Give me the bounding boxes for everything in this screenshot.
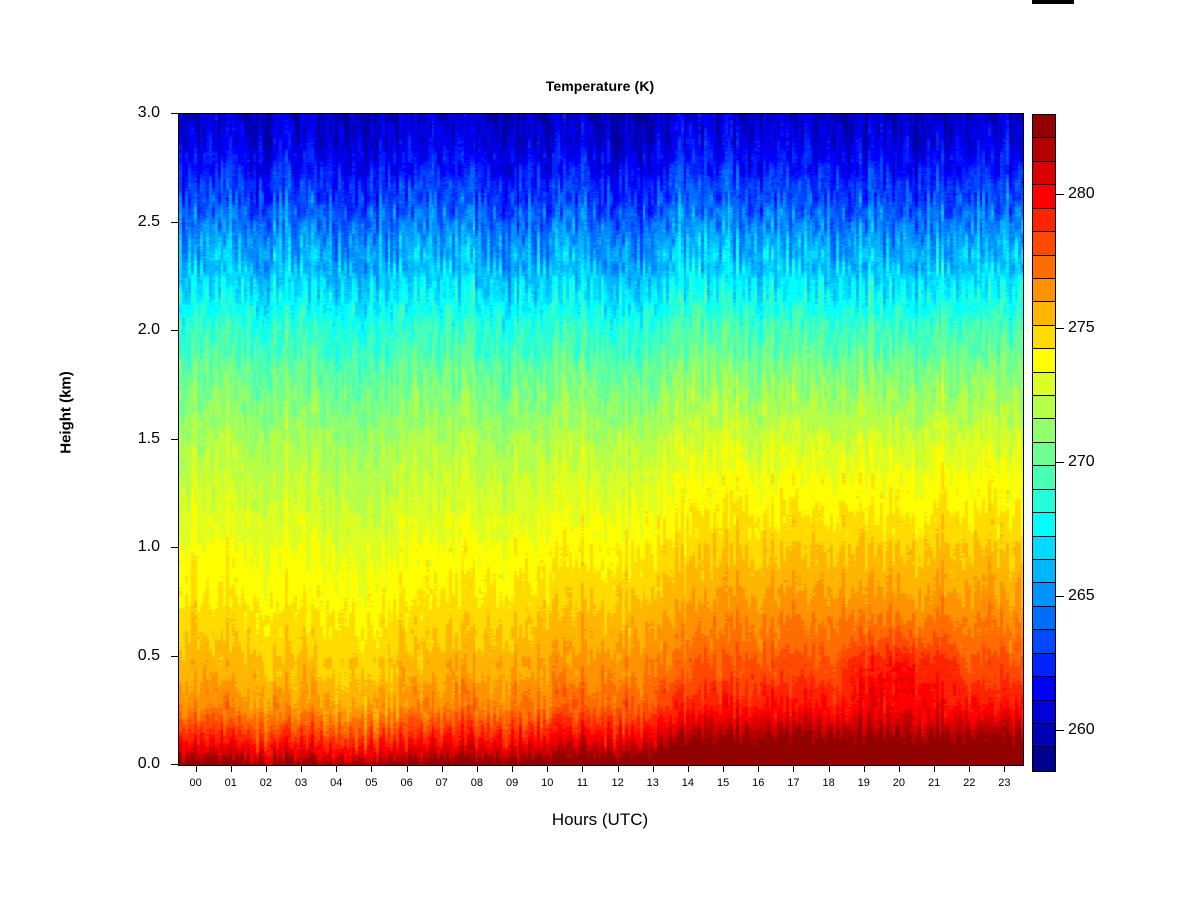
colorbar-band (1033, 583, 1055, 606)
colorbar-tick (1056, 596, 1064, 597)
colorbar-band (1033, 256, 1055, 279)
x-axis-tick (1004, 765, 1005, 772)
x-axis-tick-label: 07 (427, 777, 457, 789)
colorbar-band (1033, 232, 1055, 255)
x-axis-tick-label: 00 (181, 777, 211, 789)
x-axis-tick (231, 765, 232, 772)
page-title: Temperature (K) (178, 78, 1022, 94)
colorbar-band (1033, 677, 1055, 700)
x-axis-tick-label: 22 (954, 777, 984, 789)
colorbar-band (1033, 373, 1055, 396)
x-axis-tick-label: 02 (251, 777, 281, 789)
colorbar-band (1033, 115, 1055, 138)
colorbar-band (1033, 724, 1055, 747)
colorbar-tick-label: 265 (1068, 587, 1095, 605)
y-axis-tick-label: 2.5 (100, 213, 160, 231)
y-axis-tick-label: 3.0 (100, 104, 160, 122)
colorbar-band (1033, 138, 1055, 161)
colorbar-band (1033, 490, 1055, 513)
x-axis-tick-label: 05 (356, 777, 386, 789)
colorbar-band (1033, 349, 1055, 372)
x-axis-tick (512, 765, 513, 772)
x-axis-tick-label: 09 (497, 777, 527, 789)
y-axis-tick (171, 439, 178, 440)
colorbar-band (1033, 513, 1055, 536)
colorbar-band (1033, 607, 1055, 630)
x-axis-tick-label: 12 (603, 777, 633, 789)
x-axis-tick (793, 765, 794, 772)
y-axis-tick-label: 1.5 (100, 430, 160, 448)
x-axis-label: Hours (UTC) (178, 810, 1022, 830)
y-axis-tick (171, 222, 178, 223)
colorbar-band (1033, 747, 1055, 770)
y-axis-tick (171, 547, 178, 548)
x-axis-tick (758, 765, 759, 772)
colorbar (1032, 114, 1056, 772)
colorbar-band (1033, 185, 1055, 208)
x-axis-tick (407, 765, 408, 772)
colorbar-band (1033, 466, 1055, 489)
colorbar-band (1033, 302, 1055, 325)
colorbar-band (1033, 419, 1055, 442)
y-axis-tick (171, 764, 178, 765)
colorbar-tick-label: 275 (1068, 319, 1095, 337)
x-axis-tick-label: 17 (778, 777, 808, 789)
x-axis-tick (864, 765, 865, 772)
colorbar-band (1033, 209, 1055, 232)
y-axis-tick-label: 0.0 (100, 755, 160, 773)
x-axis-tick-label: 23 (989, 777, 1019, 789)
x-axis-tick (653, 765, 654, 772)
temperature-time-height-figure: Temperature (K) 0.00.51.01.52.02.53.0 00… (0, 0, 1200, 900)
y-axis-tick (171, 656, 178, 657)
x-axis-tick-label: 20 (884, 777, 914, 789)
x-axis-tick (266, 765, 267, 772)
x-axis-tick (547, 765, 548, 772)
colorbar-band (1033, 560, 1055, 583)
x-axis-tick (899, 765, 900, 772)
x-axis-tick-label: 15 (708, 777, 738, 789)
x-axis-tick-label: 11 (567, 777, 597, 789)
x-axis-tick (371, 765, 372, 772)
heatmap-canvas (179, 114, 1023, 765)
x-axis-tick (477, 765, 478, 772)
x-axis-tick-label: 06 (392, 777, 422, 789)
colorbar-tick (1056, 462, 1064, 463)
colorbar-band (1033, 630, 1055, 653)
x-axis-tick-label: 03 (286, 777, 316, 789)
x-axis-tick-label: 01 (216, 777, 246, 789)
x-axis-tick-label: 10 (532, 777, 562, 789)
x-axis-tick (196, 765, 197, 772)
colorbar-band (1033, 279, 1055, 302)
colorbar-band (1033, 443, 1055, 466)
x-axis-tick-label: 13 (638, 777, 668, 789)
colorbar-tick (1056, 328, 1064, 329)
colorbar-band (1033, 326, 1055, 349)
y-axis-tick (171, 113, 178, 114)
y-axis-tick-label: 2.0 (100, 321, 160, 339)
clipped-artifact-bar (1032, 0, 1074, 4)
x-axis-tick-label: 04 (321, 777, 351, 789)
x-axis-tick (688, 765, 689, 772)
y-axis-tick-label: 1.0 (100, 538, 160, 556)
colorbar-band (1033, 537, 1055, 560)
x-axis-tick (582, 765, 583, 772)
colorbar-band (1033, 162, 1055, 185)
x-axis-tick (969, 765, 970, 772)
colorbar-tick (1056, 194, 1064, 195)
y-axis-tick-label: 0.5 (100, 647, 160, 665)
x-axis-tick-label: 14 (673, 777, 703, 789)
x-axis-tick (301, 765, 302, 772)
x-axis-tick-label: 08 (462, 777, 492, 789)
colorbar-band (1033, 701, 1055, 724)
x-axis-tick (442, 765, 443, 772)
x-axis-tick-label: 21 (919, 777, 949, 789)
x-axis-tick-label: 19 (849, 777, 879, 789)
colorbar-band (1033, 654, 1055, 677)
x-axis-tick (336, 765, 337, 772)
x-axis-tick (723, 765, 724, 772)
x-axis-tick (618, 765, 619, 772)
x-axis-tick (829, 765, 830, 772)
colorbar-tick-label: 270 (1068, 453, 1095, 471)
heatmap-plot-area (178, 113, 1024, 766)
y-axis-label: Height (km) (58, 333, 75, 493)
colorbar-tick-label: 280 (1068, 185, 1095, 203)
y-axis-tick (171, 330, 178, 331)
colorbar-band (1033, 396, 1055, 419)
x-axis-tick-label: 18 (814, 777, 844, 789)
x-axis-tick-label: 16 (743, 777, 773, 789)
x-axis-tick (934, 765, 935, 772)
colorbar-tick (1056, 730, 1064, 731)
colorbar-tick-label: 260 (1068, 721, 1095, 739)
